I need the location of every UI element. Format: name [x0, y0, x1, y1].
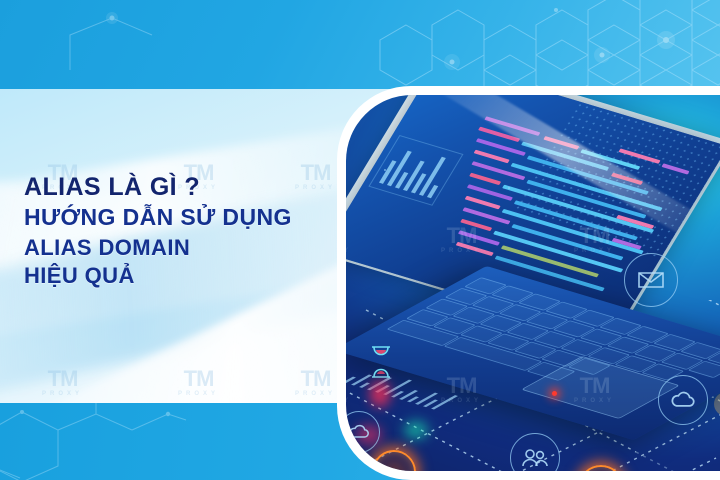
page-title: ALIAS LÀ GÌ ? HƯỚNG DẪN SỬ DỤNG ALIAS DO… — [24, 172, 354, 289]
headline-line-3: ALIAS DOMAIN — [24, 235, 354, 261]
background-top-band — [0, 0, 720, 89]
banner-image: TM PROXY TM PROXY TM PROXY TM PROXY TM P… — [0, 0, 720, 480]
illustration-canvas: ➤ TM PROXY TM PROXY TM — [346, 95, 720, 471]
glow-blob — [370, 381, 390, 407]
spacer-3 — [508, 187, 510, 189]
power-led-icon — [552, 391, 557, 396]
headline-line-2: HƯỚNG DẪN SỬ DỤNG — [24, 204, 354, 232]
headline-line-1: ALIAS LÀ GÌ ? — [24, 172, 354, 202]
headline-line-4: HIỆU QUẢ — [24, 263, 354, 289]
mail-icon — [624, 253, 678, 307]
illustration-card: ➤ TM PROXY TM PROXY TM — [337, 86, 720, 480]
cloud-icon-2 — [658, 375, 708, 425]
spacer-2 — [384, 169, 386, 171]
glow-blob — [404, 421, 428, 439]
hourglass-icon — [368, 345, 394, 379]
